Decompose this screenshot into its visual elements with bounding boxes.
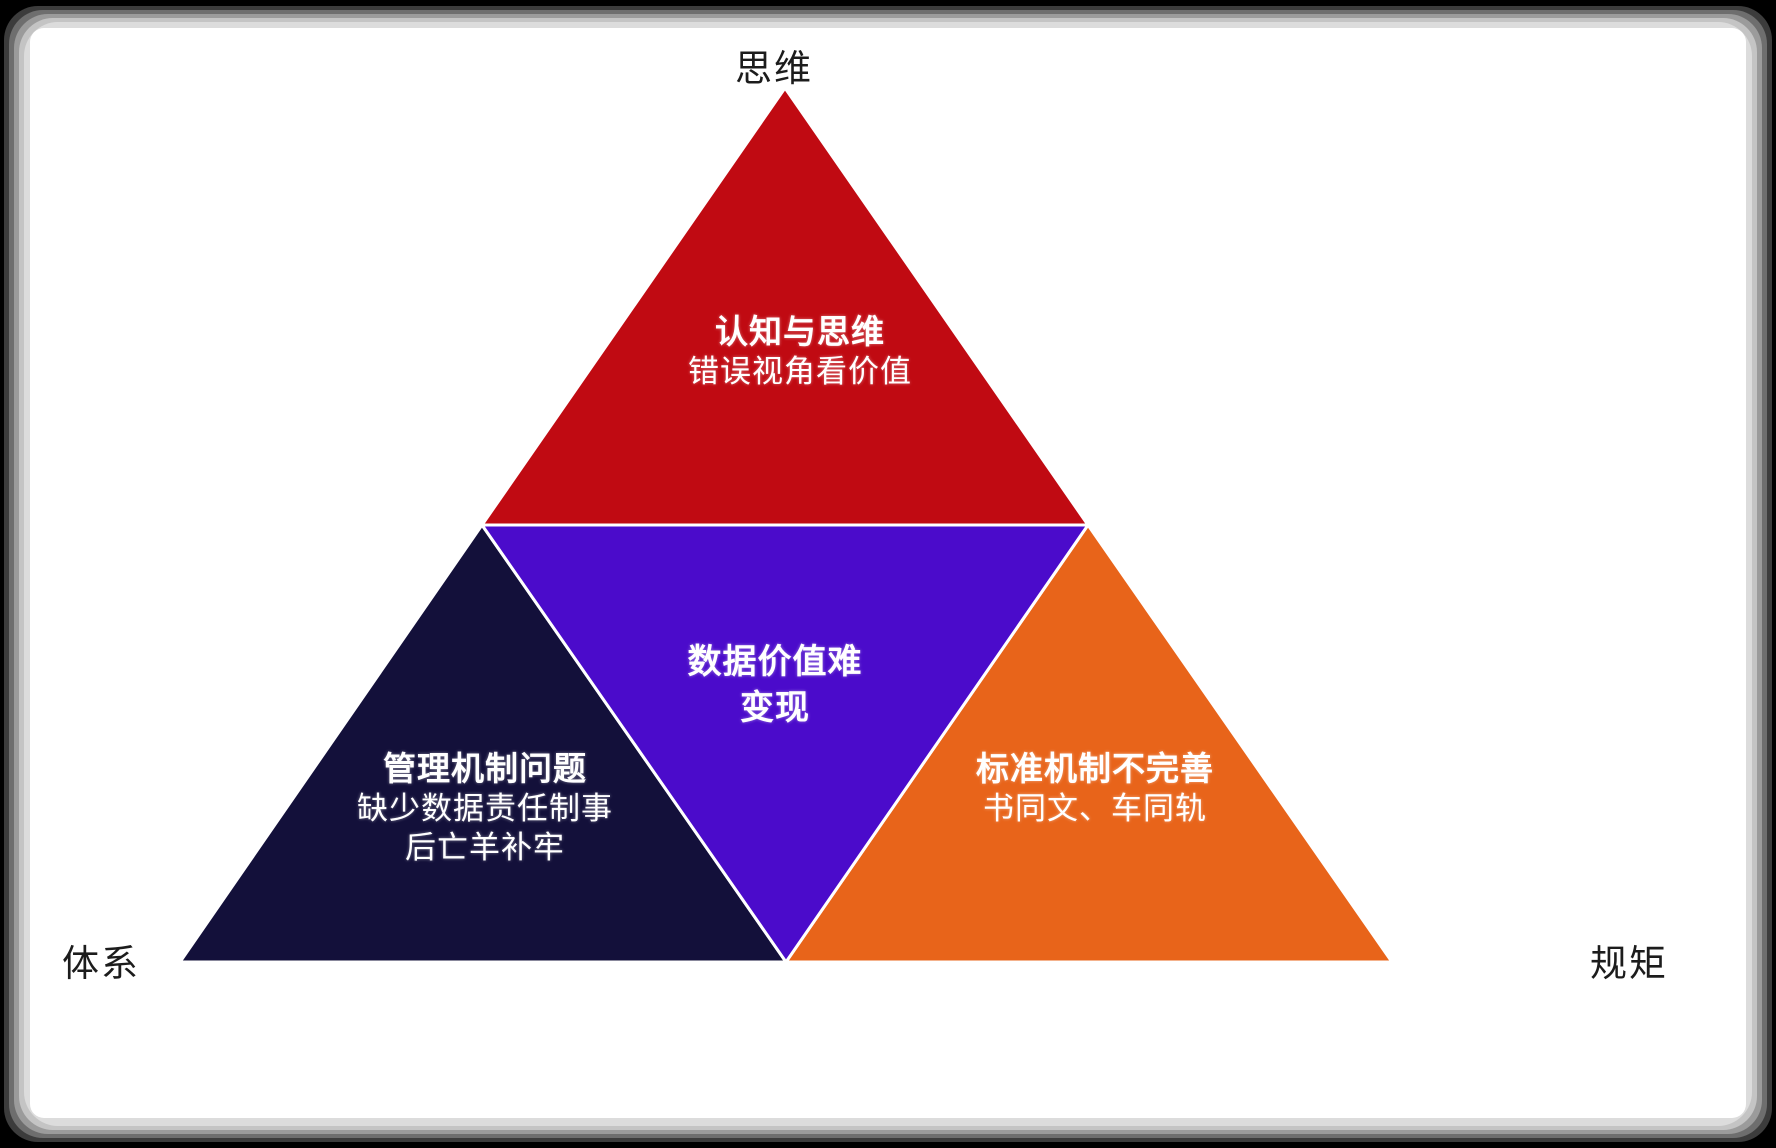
- apex-label-thinking: 思维: [735, 38, 813, 92]
- slide-canvas: 认知与思维 错误视角看价值 管理机制问题 缺少数据责任制事 后亡羊补牢 数据价值…: [30, 28, 1746, 1118]
- corner-label-system: 体系: [62, 933, 140, 987]
- slide-frame: 认知与思维 错误视角看价值 管理机制问题 缺少数据责任制事 后亡羊补牢 数据价值…: [0, 0, 1776, 1148]
- triangle-diagram-svg: [30, 28, 1746, 1118]
- triangle-diagram: 认知与思维 错误视角看价值 管理机制问题 缺少数据责任制事 后亡羊补牢 数据价值…: [30, 28, 1746, 1118]
- segment-cognition[interactable]: [482, 88, 1088, 525]
- corner-label-rules: 规矩: [1590, 933, 1668, 987]
